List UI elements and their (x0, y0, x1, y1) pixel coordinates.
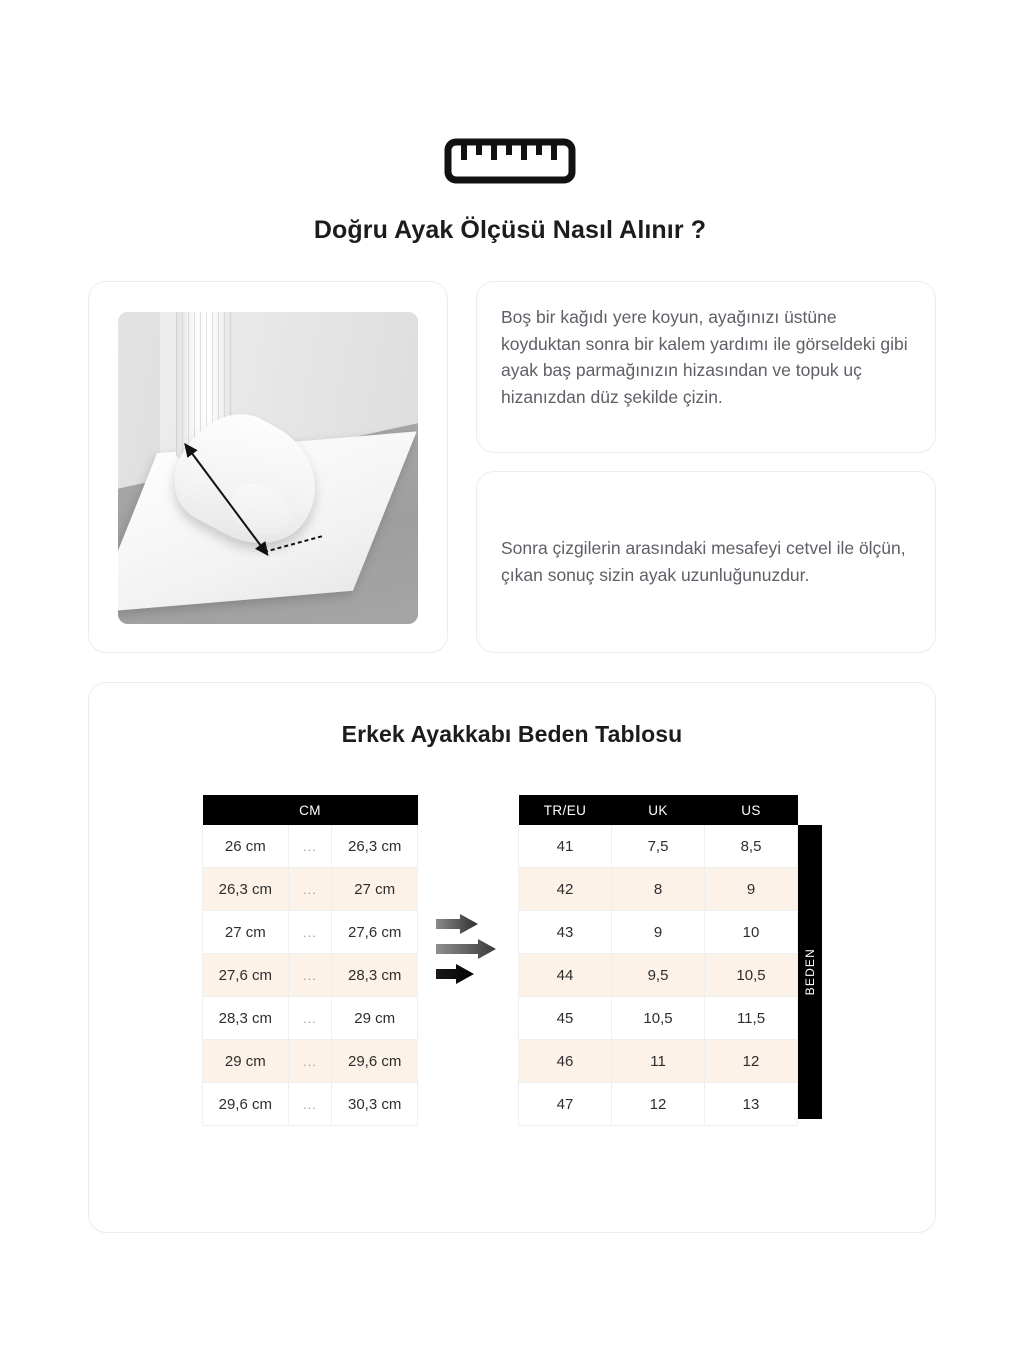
cm-to: 30,3 cm (332, 1083, 418, 1126)
instruction-text-column: Boş bir kağıdı yere koyun, ayağınızı üst… (476, 281, 936, 653)
size-us: 9 (705, 868, 798, 911)
size-uk: 12 (612, 1083, 705, 1126)
size-tr-eu: 44 (519, 954, 612, 997)
cm-table-body: 26 cm ... 26,3 cm 26,3 cm ... 27 cm 27 c… (203, 825, 418, 1126)
size-header-us: US (705, 795, 798, 825)
instructions-section: Boş bir kağıdı yere koyun, ayağınızı üst… (88, 281, 936, 653)
size-tr-eu: 46 (519, 1040, 612, 1083)
table-row[interactable]: 42 8 9 (519, 868, 798, 911)
table-row[interactable]: 26,3 cm ... 27 cm (203, 868, 418, 911)
size-header-uk: UK (612, 795, 705, 825)
size-table: TR/EU UK US 41 7,5 8,5 42 8 (518, 795, 798, 1126)
instruction-text-2: Sonra çizgilerin arasındaki mesafeyi cet… (501, 535, 909, 588)
size-us: 11,5 (705, 997, 798, 1040)
table-row[interactable]: 43 9 10 (519, 911, 798, 954)
cm-separator: ... (288, 911, 332, 954)
arrows-gap (418, 795, 518, 991)
size-tr-eu: 42 (519, 868, 612, 911)
size-tables-row: CM 26 cm ... 26,3 cm 26,3 cm ... 27 cm (89, 795, 935, 1126)
size-us: 8,5 (705, 825, 798, 868)
cm-to: 27,6 cm (332, 911, 418, 954)
cm-from: 28,3 cm (203, 997, 289, 1040)
size-uk: 8 (612, 868, 705, 911)
cm-separator: ... (288, 954, 332, 997)
size-us: 12 (705, 1040, 798, 1083)
cm-to: 27 cm (332, 868, 418, 911)
size-tr-eu: 41 (519, 825, 612, 868)
cm-header-cell: CM (203, 795, 418, 825)
size-table-card: Erkek Ayakkabı Beden Tablosu CM 26 cm ..… (88, 682, 936, 1233)
cm-to: 29,6 cm (332, 1040, 418, 1083)
measure-arrow-overlay (118, 312, 418, 624)
cm-to: 29 cm (332, 997, 418, 1040)
table-row[interactable]: 29,6 cm ... 30,3 cm (203, 1083, 418, 1126)
instruction-card-2: Sonra çizgilerin arasındaki mesafeyi cet… (476, 471, 936, 653)
instruction-text-1: Boş bir kağıdı yere koyun, ayağınızı üst… (501, 304, 909, 410)
table-row[interactable]: 27,6 cm ... 28,3 cm (203, 954, 418, 997)
cm-separator: ... (288, 868, 332, 911)
three-right-arrows-icon (434, 913, 502, 991)
ruler-icon-wrap (0, 138, 1020, 184)
cm-from: 26 cm (203, 825, 289, 868)
table-row[interactable]: 46 11 12 (519, 1040, 798, 1083)
cm-separator: ... (288, 1083, 332, 1126)
table-row[interactable]: 44 9,5 10,5 (519, 954, 798, 997)
table-row[interactable]: 45 10,5 11,5 (519, 997, 798, 1040)
page-title: Doğru Ayak Ölçüsü Nasıl Alınır ? (0, 216, 1020, 245)
size-us: 13 (705, 1083, 798, 1126)
size-us: 10,5 (705, 954, 798, 997)
size-tr-eu: 43 (519, 911, 612, 954)
size-header-tr-eu: TR/EU (519, 795, 612, 825)
size-table-header-row: TR/EU UK US (519, 795, 798, 825)
size-table-body: 41 7,5 8,5 42 8 9 43 9 10 (519, 825, 798, 1126)
size-uk: 7,5 (612, 825, 705, 868)
size-us: 10 (705, 911, 798, 954)
table-row[interactable]: 28,3 cm ... 29 cm (203, 997, 418, 1040)
size-guide-page: Doğru Ayak Ölçüsü Nasıl Alınır ? (0, 0, 1020, 1360)
size-table-title: Erkek Ayakkabı Beden Tablosu (89, 721, 935, 748)
ruler-icon (444, 138, 576, 184)
table-row[interactable]: 27 cm ... 27,6 cm (203, 911, 418, 954)
cm-from: 26,3 cm (203, 868, 289, 911)
cm-table: CM 26 cm ... 26,3 cm 26,3 cm ... 27 cm (202, 795, 418, 1126)
cm-from: 27,6 cm (203, 954, 289, 997)
cm-from: 29 cm (203, 1040, 289, 1083)
table-row[interactable]: 29 cm ... 29,6 cm (203, 1040, 418, 1083)
cm-to: 28,3 cm (332, 954, 418, 997)
beden-side-bar: BEDEN (798, 825, 822, 1119)
cm-from: 29,6 cm (203, 1083, 289, 1126)
table-row[interactable]: 26 cm ... 26,3 cm (203, 825, 418, 868)
table-row[interactable]: 47 12 13 (519, 1083, 798, 1126)
cm-from: 27 cm (203, 911, 289, 954)
cm-to: 26,3 cm (332, 825, 418, 868)
instruction-photo-card (88, 281, 448, 653)
size-uk: 11 (612, 1040, 705, 1083)
instruction-card-1: Boş bir kağıdı yere koyun, ayağınızı üst… (476, 281, 936, 453)
cm-table-header-row: CM (203, 795, 418, 825)
cm-separator: ... (288, 1040, 332, 1083)
size-table-wrap: TR/EU UK US 41 7,5 8,5 42 8 (518, 795, 822, 1126)
size-tr-eu: 45 (519, 997, 612, 1040)
size-uk: 9,5 (612, 954, 705, 997)
cm-separator: ... (288, 997, 332, 1040)
size-tr-eu: 47 (519, 1083, 612, 1126)
size-uk: 10,5 (612, 997, 705, 1040)
foot-measure-photo (118, 312, 418, 624)
cm-separator: ... (288, 825, 332, 868)
beden-side-label: BEDEN (803, 948, 817, 995)
size-uk: 9 (612, 911, 705, 954)
table-row[interactable]: 41 7,5 8,5 (519, 825, 798, 868)
